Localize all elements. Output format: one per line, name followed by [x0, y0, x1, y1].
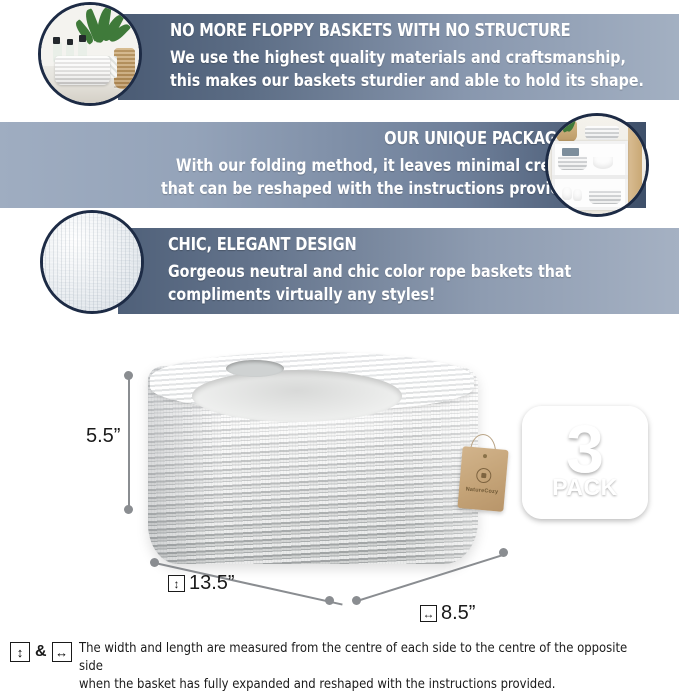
measurement-footnote: ↕ & ↔ The width and length are measured … — [10, 640, 669, 694]
wood-panel — [628, 122, 642, 214]
basket-interior — [192, 370, 402, 422]
height-dimension-dot-bottom — [124, 505, 133, 514]
feature-body-structure-line1: We use the highest quality materials and… — [170, 48, 626, 70]
basket-handle — [226, 360, 284, 377]
feature-title-design: CHIC, ELEGANT DESIGN — [168, 235, 357, 255]
pack-count-number: 3 — [566, 420, 604, 478]
shelf-bowl — [593, 157, 613, 169]
shelf-book — [562, 148, 580, 156]
width-dimension-label: ↔ 8.5” — [420, 602, 475, 625]
footnote-icons: ↕ & ↔ — [10, 640, 72, 662]
rope-basket-in-scene — [55, 56, 110, 85]
length-dimension-label: ↕ 13.5” — [168, 572, 235, 595]
feature-body-packaging-line1: With our folding method, it leaves minim… — [176, 156, 586, 178]
length-dimension-dot-left — [150, 558, 159, 567]
vertical-arrow-icon: ↕ — [10, 642, 30, 662]
feature-photo-bathroom — [38, 2, 142, 106]
footnote-separator: & — [35, 643, 47, 661]
bottle-cap — [79, 35, 86, 42]
shelf-basket-bottom — [589, 189, 620, 205]
shelf-divider — [552, 175, 628, 179]
feature-body-design-line2: compliments virtually any styles! — [168, 285, 435, 307]
length-dimension-dot-right — [325, 596, 334, 605]
height-dimension-dot-top — [124, 371, 133, 380]
vertical-arrow-icon: ↕ — [168, 575, 185, 592]
height-dimension-line — [128, 377, 130, 509]
bottle-cap — [67, 39, 73, 45]
shelf-vase — [573, 189, 582, 202]
feature-body-design-line1: Gorgeous neutral and chic color rope bas… — [168, 262, 571, 284]
width-dimension-dot-left — [352, 596, 361, 605]
height-value: 5.5” — [86, 425, 120, 448]
brand-hang-tag: NatureCozy — [457, 446, 508, 512]
feature-banner-structure: NO MORE FLOPPY BASKETS WITH NO STRUCTURE… — [118, 14, 679, 100]
footnote-line-1: The width and length are measured from t… — [79, 640, 646, 676]
height-dimension-label: 5.5” — [86, 425, 120, 448]
bookshelf-scene — [548, 116, 646, 214]
rope-basket-product-photo — [148, 352, 478, 567]
pack-count-badge: 3 PACK — [522, 406, 648, 519]
feature-body-structure-line2: this makes our baskets sturdier and able… — [170, 71, 644, 93]
bathroom-scene — [41, 5, 139, 103]
shelf-vase — [562, 187, 572, 201]
feature-photo-bookshelf — [545, 113, 649, 217]
tag-hole — [483, 454, 487, 458]
feature-title-structure: NO MORE FLOPPY BASKETS WITH NO STRUCTURE — [170, 21, 570, 41]
bottle-cap — [53, 37, 60, 44]
feature-photo-rope-texture — [40, 210, 144, 314]
rope-texture-closeup — [40, 210, 144, 314]
length-value: 13.5” — [189, 572, 235, 595]
width-dimension-dot-right — [499, 548, 508, 557]
feature-body-packaging-line2: that can be reshaped with the instructio… — [161, 179, 586, 201]
pack-count-word: PACK — [552, 474, 617, 501]
shelf-basket-top — [585, 126, 618, 141]
brand-logo-icon — [475, 467, 491, 483]
footnote-line-2: when the basket has fully expanded and r… — [79, 676, 646, 694]
horizontal-arrow-icon: ↔ — [52, 642, 72, 662]
brand-name: NatureCozy — [459, 486, 505, 496]
footnote-text: The width and length are measured from t… — [79, 640, 669, 694]
horizontal-arrow-icon: ↔ — [420, 605, 437, 622]
width-value: 8.5” — [441, 602, 475, 625]
feature-banner-design: CHIC, ELEGANT DESIGN Gorgeous neutral an… — [118, 228, 679, 314]
shelf-basket-middle — [558, 155, 587, 170]
